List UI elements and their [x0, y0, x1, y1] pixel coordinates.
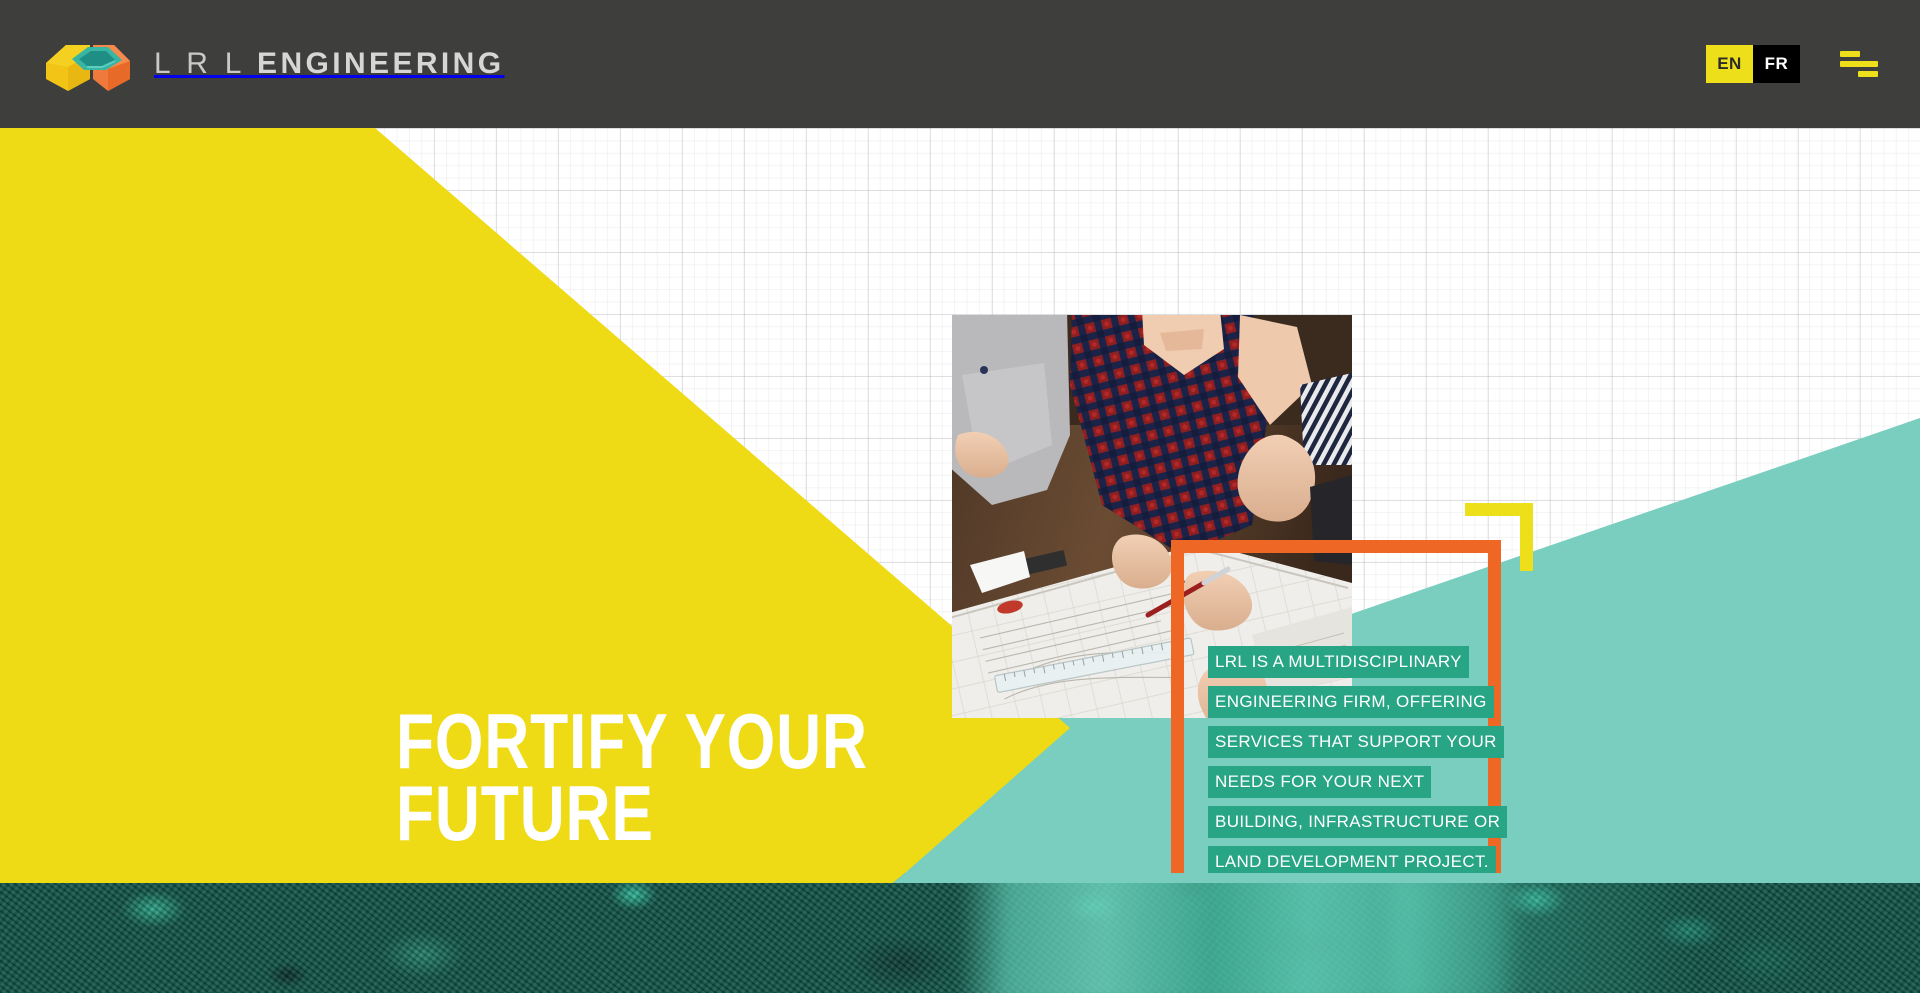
hero-section: LRL IS A MULTIDISCIPLINARY ENGINEERING F… [0, 128, 1920, 873]
intro-line: NEEDS FOR YOUR NEXT [1208, 766, 1431, 798]
intro-line: LAND DEVELOPMENT PROJECT. [1208, 846, 1496, 873]
brand-name-bold: ENGINEERING [257, 47, 504, 80]
headline-line-1: FORTIFY YOUR [396, 706, 868, 778]
menu-bar-bottom [1858, 71, 1878, 77]
isometric-box-logo-icon [44, 33, 132, 95]
intro-line: SERVICES THAT SUPPORT YOUR [1208, 726, 1504, 758]
intro-line: LRL IS A MULTIDISCIPLINARY [1208, 646, 1469, 678]
lang-button-en[interactable]: EN [1706, 45, 1753, 83]
bottom-image-band [0, 873, 1920, 993]
site-header: L R L ENGINEERING EN FR [0, 0, 1920, 128]
brand-logo-link[interactable]: L R L ENGINEERING [44, 33, 504, 95]
blurred-figure-overlay-secondary [1390, 873, 1690, 993]
menu-bar-top [1840, 51, 1860, 57]
headline-line-2: FUTURE [396, 778, 868, 850]
language-toggle[interactable]: EN FR [1706, 45, 1800, 83]
bracket-vertical-bar [1520, 503, 1533, 571]
intro-paragraph: LRL IS A MULTIDISCIPLINARY ENGINEERING F… [1208, 646, 1508, 873]
intro-line: BUILDING, INFRASTRUCTURE OR [1208, 806, 1507, 838]
intro-line: ENGINEERING FIRM, OFFERING [1208, 686, 1494, 718]
menu-bar-middle [1840, 61, 1878, 67]
lang-button-fr[interactable]: FR [1753, 45, 1800, 83]
brand-name-light: L R L [154, 47, 244, 80]
brand-text: L R L ENGINEERING [154, 49, 504, 79]
hero-headline: FORTIFY YOUR FUTURE [396, 706, 986, 873]
header-right-controls: EN FR [1706, 45, 1880, 83]
hamburger-menu-icon[interactable] [1838, 49, 1880, 79]
page-root: L R L ENGINEERING EN FR [0, 0, 1920, 993]
